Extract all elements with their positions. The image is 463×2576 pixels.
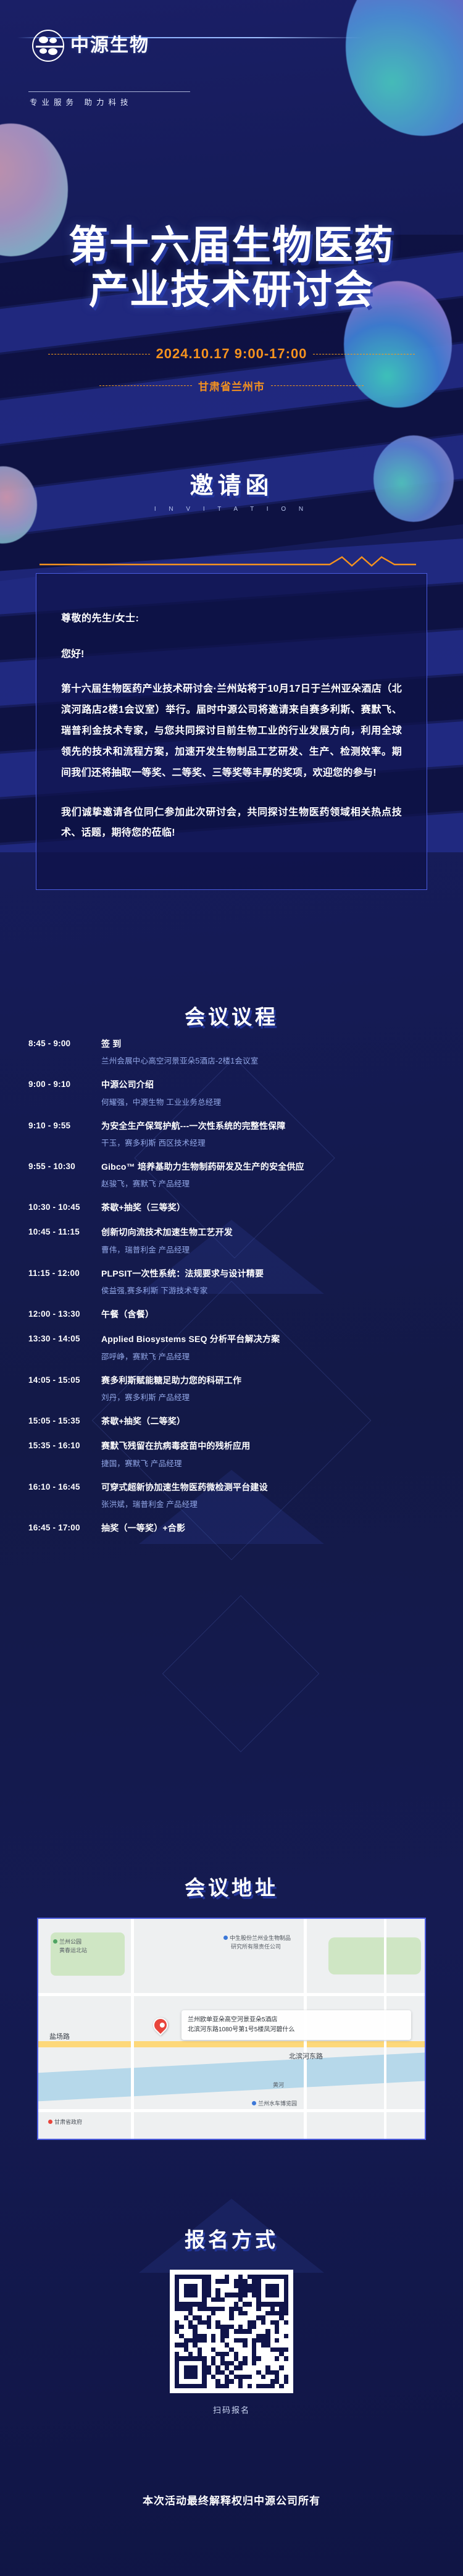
event-city-row: 甘肃省兰州市 <box>0 378 463 393</box>
map-poi-sublabel: 黄春运北站 <box>59 1946 87 1954</box>
map-pin-icon <box>48 2120 52 2124</box>
agenda-speaker: 赵骏飞，赛默飞 产品经理 <box>101 1177 435 1189</box>
agenda-row: 16:45 - 17:00抽奖（一等奖）+合影 <box>28 1522 435 1534</box>
brand-tagline: 专业服务 助力科技 <box>30 96 132 107</box>
venue-address-line-2: 北滨河东路1080号第1号5楼凤河碧什么 <box>188 2025 405 2035</box>
agenda-speaker: 张洪斌，瑞普利金 产品经理 <box>101 1498 435 1509</box>
agenda-content: 茶歇+抽奖（二等奖） <box>101 1415 435 1427</box>
agenda-speaker: 何耀强，中源生物 工业业务总经理 <box>101 1096 435 1107</box>
agenda-time: 11:15 - 12:00 <box>28 1267 101 1296</box>
agenda-topic: 茶歇+抽奖（三等奖） <box>101 1201 435 1214</box>
agenda-speaker: 捷国，赛默飞 产品经理 <box>101 1457 435 1469</box>
map-road <box>38 1993 426 1996</box>
dashed-rule <box>271 385 364 386</box>
agenda-topic: 赛多利斯赋能糖足助力您的科研工作 <box>101 1374 435 1387</box>
circle-molecule-logo-icon <box>32 30 64 62</box>
agenda-row: 9:00 - 9:10中源公司介绍何耀强，中源生物 工业业务总经理 <box>28 1078 435 1107</box>
agenda-topic: 抽奖（一等奖）+合影 <box>101 1522 435 1534</box>
invitation-card: 尊敬的先生/女士: 您好! 第十六届生物医药产业技术研讨会·兰州站将于10月17… <box>36 573 427 890</box>
agenda-row: 11:15 - 12:00PLPSIT一次性系统：法规要求与设计精要侯益强,赛多… <box>28 1267 435 1296</box>
dashed-rule <box>48 354 150 355</box>
signup-section-title: 报名方式 <box>0 2223 463 2253</box>
dashed-rule <box>313 354 415 355</box>
page-title: 第十六届生物医药 产业技术研讨会 <box>0 224 463 312</box>
invitation-hello: 您好! <box>61 645 402 660</box>
agenda-row: 14:05 - 15:05赛多利斯赋能糖足助力您的科研工作刘丹，赛多利斯 产品经… <box>28 1374 435 1403</box>
map-poi-government[interactable]: 甘肃省政府 <box>48 2118 82 2126</box>
agenda-speaker: 干玉，赛多利斯 西区技术经理 <box>101 1136 435 1148</box>
agenda-speaker: 曹伟，瑞普利金 产品经理 <box>101 1243 435 1255</box>
qr-code[interactable] <box>170 2270 293 2393</box>
agenda-time: 16:45 - 17:00 <box>28 1522 101 1534</box>
agenda-list: 8:45 - 9:00签 到兰州会展中心高空河景亚朵5酒店-2楼1会议室9:00… <box>0 1038 463 1546</box>
agenda-topic: 创新切向流技术加速生物工艺开发 <box>101 1226 435 1238</box>
agenda-topic: 可穿式超新协加速生物医药微检测平台建设 <box>101 1481 435 1493</box>
agenda-row: 8:45 - 9:00签 到兰州会展中心高空河景亚朵5酒店-2楼1会议室 <box>28 1038 435 1066</box>
map-road <box>38 2109 426 2112</box>
brand-name: 中源生物 <box>70 36 149 55</box>
agenda-time: 10:30 - 10:45 <box>28 1201 101 1214</box>
map-poi-label: 中生股份兰州业生物制品 <box>230 1934 291 1942</box>
agenda-topic: PLPSIT一次性系统：法规要求与设计精要 <box>101 1267 435 1280</box>
agenda-row: 12:00 - 13:30午餐（含餐） <box>28 1308 435 1320</box>
agenda-content: Gibco™ 培养基助力生物制药研发及生产的安全供应赵骏飞，赛默飞 产品经理 <box>101 1160 435 1189</box>
map-poi-park[interactable]: 兰州公园 <box>53 1937 81 1945</box>
agenda-time: 9:00 - 9:10 <box>28 1078 101 1107</box>
map-label-main-road: 北滨河东路 <box>289 2051 323 2061</box>
agenda-speaker: 兰州会展中心高空河景亚朵5酒店-2楼1会议室 <box>101 1054 435 1066</box>
qr-code-image <box>175 2275 288 2388</box>
invitation-paragraph-1: 第十六届生物医药产业技术研讨会·兰州站将于10月17日于兰州亚朵酒店（北滨河路店… <box>61 679 402 784</box>
map-poi-museum[interactable]: 兰州水车博览园 <box>252 2099 297 2107</box>
tagline-divider <box>28 91 190 92</box>
agenda-content: 抽奖（一等奖）+合影 <box>101 1522 435 1534</box>
qr-caption: 扫码报名 <box>0 2404 463 2415</box>
venue-map[interactable]: 兰州公园 黄春运北站 中生股份兰州业生物制品 研究所有限责任公司 盐场路 北滨河… <box>37 1918 426 2140</box>
agenda-row: 16:10 - 16:45可穿式超新协加速生物医药微检测平台建设张洪斌，瑞普利金… <box>28 1481 435 1509</box>
map-pin-icon <box>53 1939 57 1944</box>
agenda-row: 15:35 - 16:10赛默飞残留在抗病毒疫苗中的残析应用捷国，赛默飞 产品经… <box>28 1440 435 1468</box>
venue-section-title: 会议地址 <box>0 1871 463 1901</box>
agenda-time: 9:55 - 10:30 <box>28 1160 101 1189</box>
agenda-topic: Gibco™ 培养基助力生物制药研发及生产的安全供应 <box>101 1160 435 1173</box>
invitation-paragraph-2: 我们诚挚邀请各位同仁参加此次研讨会，共同探讨生物医药领域相关热点技术、话题，期待… <box>61 802 402 844</box>
agenda-time: 12:00 - 13:30 <box>28 1308 101 1320</box>
map-park-area <box>328 1937 421 1974</box>
map-label-salt-road: 盐场路 <box>49 2031 70 2041</box>
agenda-section-title: 会议议程 <box>0 1001 463 1030</box>
agenda-content: PLPSIT一次性系统：法规要求与设计精要侯益强,赛多利斯 下游技术专家 <box>101 1267 435 1296</box>
agenda-time: 8:45 - 9:00 <box>28 1038 101 1066</box>
title-line-1: 第十六届生物医药 <box>0 224 463 268</box>
agenda-row: 10:30 - 10:45茶歇+抽奖（三等奖） <box>28 1201 435 1214</box>
agenda-content: 签 到兰州会展中心高空河景亚朵5酒店-2楼1会议室 <box>101 1038 435 1066</box>
diamond-outline-decoration <box>162 1595 320 1753</box>
map-poi-company[interactable]: 中生股份兰州业生物制品 <box>223 1934 291 1942</box>
agenda-time: 13:30 - 14:05 <box>28 1333 101 1361</box>
agenda-topic: 茶歇+抽奖（二等奖） <box>101 1415 435 1427</box>
agenda-row: 9:10 - 9:55为安全生产保驾护航---一次性系统的完整性保障干玉，赛多利… <box>28 1120 435 1148</box>
dashed-rule <box>99 385 192 386</box>
agenda-speaker: 侯益强,赛多利斯 下游技术专家 <box>101 1284 435 1296</box>
event-city: 甘肃省兰州市 <box>198 378 265 393</box>
agenda-time: 14:05 - 15:05 <box>28 1374 101 1403</box>
map-label-river: 黄河 <box>273 2081 284 2089</box>
agenda-time: 16:10 - 16:45 <box>28 1481 101 1509</box>
agenda-speaker: 邵呼峥，赛默飞 产品经理 <box>101 1350 435 1362</box>
invitation-poster: 中源生物 专业服务 助力科技 第十六届生物医药 产业技术研讨会 2024.10.… <box>0 0 463 2576</box>
event-datetime-row: 2024.10.17 9:00-17:00 <box>0 346 463 362</box>
agenda-row: 9:55 - 10:30Gibco™ 培养基助力生物制药研发及生产的安全供应赵骏… <box>28 1160 435 1189</box>
venue-location-pin-icon <box>153 2018 169 2039</box>
map-poi-label: 兰州公园 <box>59 1937 81 1945</box>
agenda-time: 10:45 - 11:15 <box>28 1226 101 1254</box>
agenda-row: 15:05 - 15:35茶歇+抽奖（二等奖） <box>28 1415 435 1427</box>
map-road <box>131 1919 134 2140</box>
brand-logo: 中源生物 <box>32 30 149 62</box>
agenda-content: 为安全生产保驾护航---一次性系统的完整性保障干玉，赛多利斯 西区技术经理 <box>101 1120 435 1148</box>
agenda-content: 午餐（含餐） <box>101 1308 435 1320</box>
orange-zigzag-decoration <box>40 555 416 568</box>
invitation-title: 邀请函 <box>0 466 463 500</box>
map-poi-label: 甘肃省政府 <box>54 2118 82 2126</box>
event-meta: 2024.10.17 9:00-17:00 甘肃省兰州市 <box>0 346 463 409</box>
event-datetime: 2024.10.17 9:00-17:00 <box>156 346 307 362</box>
map-poi-sublabel: 研究所有限责任公司 <box>231 1942 281 1950</box>
map-pin-icon <box>252 2101 256 2105</box>
invitation-subtitle: I N V I T A T I O N <box>0 506 463 513</box>
agenda-topic: Applied Biosystems SEQ 分析平台解决方案 <box>101 1333 435 1345</box>
agenda-content: Applied Biosystems SEQ 分析平台解决方案邵呼峥，赛默飞 产… <box>101 1333 435 1361</box>
agenda-content: 赛默飞残留在抗病毒疫苗中的残析应用捷国，赛默飞 产品经理 <box>101 1440 435 1468</box>
invitation-header: 邀请函 I N V I T A T I O N <box>0 466 463 513</box>
invitation-greeting: 尊敬的先生/女士: <box>61 610 402 624</box>
agenda-row: 13:30 - 14:05Applied Biosystems SEQ 分析平台… <box>28 1333 435 1361</box>
agenda-time: 15:35 - 16:10 <box>28 1440 101 1468</box>
agenda-topic: 中源公司介绍 <box>101 1078 435 1091</box>
title-line-2: 产业技术研讨会 <box>0 268 463 313</box>
footer-disclaimer: 本次活动最终解释权归中源公司所有 <box>0 2492 463 2507</box>
agenda-content: 中源公司介绍何耀强，中源生物 工业业务总经理 <box>101 1078 435 1107</box>
map-poi-label: 兰州水车博览园 <box>258 2099 297 2107</box>
agenda-topic: 午餐（含餐） <box>101 1308 435 1320</box>
agenda-topic: 签 到 <box>101 1038 435 1050</box>
agenda-time: 15:05 - 15:35 <box>28 1415 101 1427</box>
venue-address-line-1: 兰州欧单亚朵高空河景亚朵5酒店 <box>188 2015 405 2025</box>
agenda-topic: 为安全生产保驾护航---一次性系统的完整性保障 <box>101 1120 435 1132</box>
agenda-row: 10:45 - 11:15创新切向流技术加速生物工艺开发曹伟，瑞普利金 产品经理 <box>28 1226 435 1254</box>
map-main-road <box>38 2041 426 2047</box>
map-pin-icon <box>223 1936 228 1940</box>
agenda-content: 可穿式超新协加速生物医药微检测平台建设张洪斌，瑞普利金 产品经理 <box>101 1481 435 1509</box>
agenda-content: 创新切向流技术加速生物工艺开发曹伟，瑞普利金 产品经理 <box>101 1226 435 1254</box>
agenda-content: 赛多利斯赋能糖足助力您的科研工作刘丹，赛多利斯 产品经理 <box>101 1374 435 1403</box>
agenda-time: 9:10 - 9:55 <box>28 1120 101 1148</box>
agenda-topic: 赛默飞残留在抗病毒疫苗中的残析应用 <box>101 1440 435 1452</box>
venue-address-callout: 兰州欧单亚朵高空河景亚朵5酒店 北滨河东路1080号第1号5楼凤河碧什么 <box>181 2010 411 2040</box>
agenda-content: 茶歇+抽奖（三等奖） <box>101 1201 435 1214</box>
agenda-speaker: 刘丹，赛多利斯 产品经理 <box>101 1391 435 1403</box>
